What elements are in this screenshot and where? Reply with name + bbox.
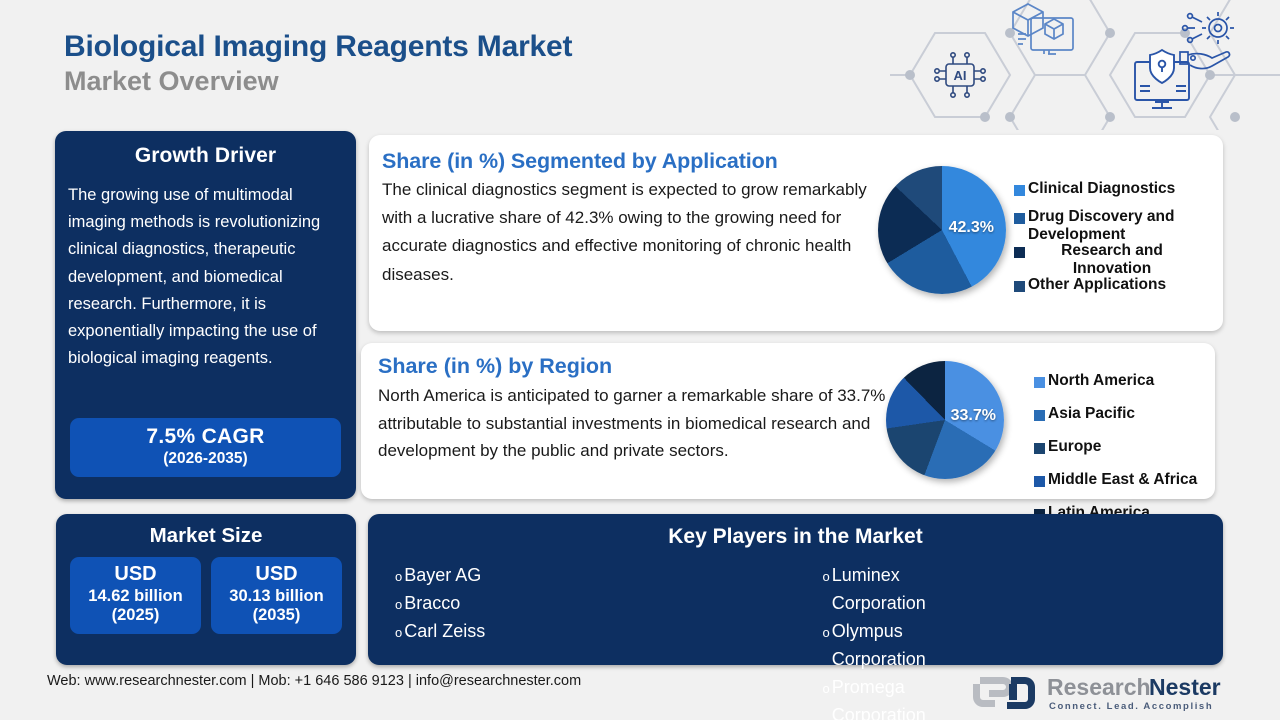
svg-text:AI: AI bbox=[954, 68, 967, 83]
logo-brand-dark: Nester bbox=[1149, 674, 1221, 700]
legend-item: North America bbox=[1034, 372, 1197, 390]
application-pie-data-label: 42.3% bbox=[949, 219, 994, 237]
player-name: Promega Corporation bbox=[832, 673, 926, 720]
legend-swatch-icon bbox=[1014, 247, 1025, 258]
growth-driver-card: Growth Driver The growing use of multimo… bbox=[55, 131, 356, 499]
year-value: (2035) bbox=[211, 606, 342, 626]
legend-item: Middle East & Africa bbox=[1034, 471, 1197, 489]
application-pie-chart: 42.3% bbox=[878, 166, 1006, 294]
legend-label: Drug Discovery and Development bbox=[1028, 208, 1193, 244]
market-size-boxes: USD 14.62 billion (2025) USD 30.13 billi… bbox=[56, 548, 356, 634]
infographic-page: AI bbox=[0, 0, 1280, 720]
key-players-card: Key Players in the Market o Bayer AG o B… bbox=[368, 514, 1223, 665]
cagr-period: (2026-2035) bbox=[70, 450, 341, 468]
region-pie-data-label: 33.7% bbox=[951, 407, 996, 425]
market-size-title: Market Size bbox=[56, 524, 356, 548]
growth-driver-title: Growth Driver bbox=[55, 144, 356, 168]
market-size-card: Market Size USD 14.62 billion (2025) USD… bbox=[56, 514, 356, 665]
region-share-description: North America is anticipated to garner a… bbox=[361, 379, 891, 465]
cagr-badge: 7.5% CAGR (2026-2035) bbox=[70, 418, 341, 477]
amount-value: 30.13 billion bbox=[211, 587, 342, 607]
legend-label: Research and Innovation bbox=[1047, 242, 1177, 278]
currency-label: USD bbox=[211, 563, 342, 587]
amount-value: 14.62 billion bbox=[70, 587, 201, 607]
legend-item: Clinical Diagnostics bbox=[1014, 180, 1175, 198]
legend-label: Asia Pacific bbox=[1048, 405, 1135, 423]
security-shield-icon bbox=[1135, 50, 1189, 108]
legend-swatch-icon bbox=[1034, 410, 1045, 421]
key-players-column-right: o Luminex Corporation o Olympus Corporat… bbox=[398, 561, 826, 720]
footer-contact: Web: www.researchnester.com | Mob: +1 64… bbox=[47, 672, 607, 691]
currency-label: USD bbox=[70, 563, 201, 587]
legend-swatch-icon bbox=[1014, 281, 1025, 292]
page-subtitle: Market Overview bbox=[64, 66, 572, 97]
ai-chip-icon: AI bbox=[935, 53, 985, 97]
list-item: o Olympus Corporation bbox=[823, 617, 826, 673]
application-share-title: Share (in %) Segmented by Application bbox=[369, 135, 1223, 174]
legend-label: Clinical Diagnostics bbox=[1028, 180, 1175, 198]
legend-swatch-icon bbox=[1034, 443, 1045, 454]
legend-item: Research and Innovation bbox=[1014, 242, 1177, 278]
research-nester-logo: Research Nester Connect. Lead. Accomplis… bbox=[965, 668, 1223, 714]
key-players-title: Key Players in the Market bbox=[368, 525, 1223, 549]
legend-item: Other Applications bbox=[1014, 276, 1166, 294]
list-item: o Promega Corporation bbox=[823, 673, 826, 720]
legend-swatch-icon bbox=[1014, 213, 1025, 224]
list-item: o Luminex Corporation bbox=[823, 561, 826, 617]
legend-label: North America bbox=[1048, 372, 1154, 390]
circle-bullet-icon: o bbox=[823, 679, 830, 699]
growth-driver-body: The growing use of multimodal imaging me… bbox=[55, 168, 356, 373]
page-header: Biological Imaging Reagents Market Marke… bbox=[64, 30, 572, 97]
page-title: Biological Imaging Reagents Market bbox=[64, 30, 572, 64]
hexagon-decoration: AI bbox=[890, 0, 1280, 130]
legend-label: Other Applications bbox=[1028, 276, 1166, 294]
circle-bullet-icon: o bbox=[823, 623, 830, 643]
cagr-value: 7.5% CAGR bbox=[70, 425, 341, 449]
legend-label: Middle East & Africa bbox=[1048, 471, 1197, 489]
application-share-description: The clinical diagnostics segment is expe… bbox=[369, 174, 889, 289]
logo-tagline: Connect. Lead. Accomplish bbox=[1049, 701, 1213, 712]
legend-label: Europe bbox=[1048, 438, 1101, 456]
market-size-box-forecast-year: USD 30.13 billion (2035) bbox=[211, 557, 342, 634]
logo-mark-icon bbox=[973, 677, 1035, 709]
legend-swatch-icon bbox=[1034, 377, 1045, 388]
circle-bullet-icon: o bbox=[823, 567, 830, 587]
player-name: Luminex Corporation bbox=[832, 561, 926, 617]
logo-brand-light: Research bbox=[1047, 674, 1151, 700]
legend-item: Drug Discovery and Development bbox=[1014, 208, 1193, 244]
region-pie-chart: 33.7% bbox=[886, 361, 1004, 479]
market-size-box-base-year: USD 14.62 billion (2025) bbox=[70, 557, 201, 634]
region-pie-legend: North America Asia Pacific Europe Middle… bbox=[1034, 372, 1197, 537]
legend-swatch-icon bbox=[1034, 476, 1045, 487]
year-value: (2025) bbox=[70, 606, 201, 626]
legend-item: Europe bbox=[1034, 438, 1197, 456]
legend-item: Asia Pacific bbox=[1034, 405, 1197, 423]
legend-swatch-icon bbox=[1014, 185, 1025, 196]
player-name: Olympus Corporation bbox=[832, 617, 926, 673]
